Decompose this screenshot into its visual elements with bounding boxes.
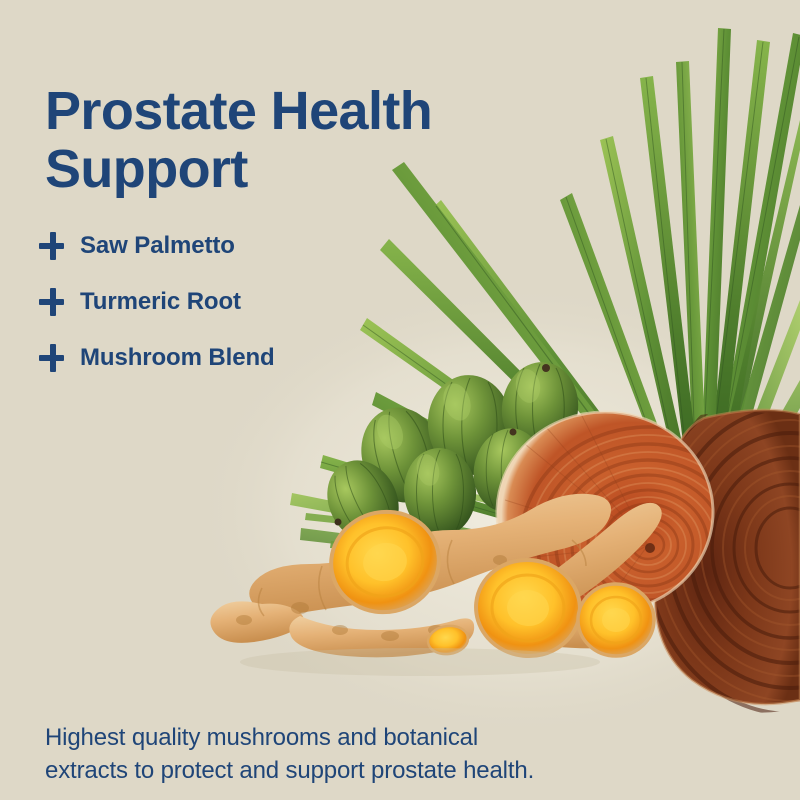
- benefit-list: Saw Palmetto Turmeric Root Mushroom Blen…: [36, 218, 456, 386]
- turmeric-root: [210, 494, 661, 676]
- caption-text: Highest quality mushrooms and botanical …: [45, 721, 665, 787]
- reishi-mushroom-front: [497, 412, 776, 663]
- berry: [466, 422, 550, 518]
- berry: [496, 357, 584, 459]
- list-item: Mushroom Blend: [36, 330, 456, 386]
- berry: [401, 446, 479, 539]
- reishi-mushroom-back: [646, 382, 800, 714]
- berry: [350, 398, 453, 512]
- plus-icon: [36, 285, 70, 319]
- benefit-label: Saw Palmetto: [80, 232, 235, 260]
- product-promo-card: Prostate Health Support Saw Palmetto Tur…: [0, 0, 800, 800]
- saw-palmetto-berries: [314, 357, 584, 553]
- benefit-label: Turmeric Root: [80, 288, 241, 316]
- turmeric-cut-face: [471, 555, 584, 661]
- berry: [423, 371, 517, 479]
- plus-icon: [36, 229, 70, 263]
- turmeric-cut-face: [426, 623, 470, 656]
- page-title: Prostate Health Support: [45, 82, 565, 198]
- berry: [314, 448, 412, 553]
- list-item: Saw Palmetto: [36, 218, 456, 274]
- turmeric-cut-face: [576, 581, 657, 658]
- benefit-label: Mushroom Blend: [80, 344, 275, 372]
- turmeric-cut-face: [322, 502, 448, 622]
- plus-icon: [36, 341, 70, 375]
- list-item: Turmeric Root: [36, 274, 456, 330]
